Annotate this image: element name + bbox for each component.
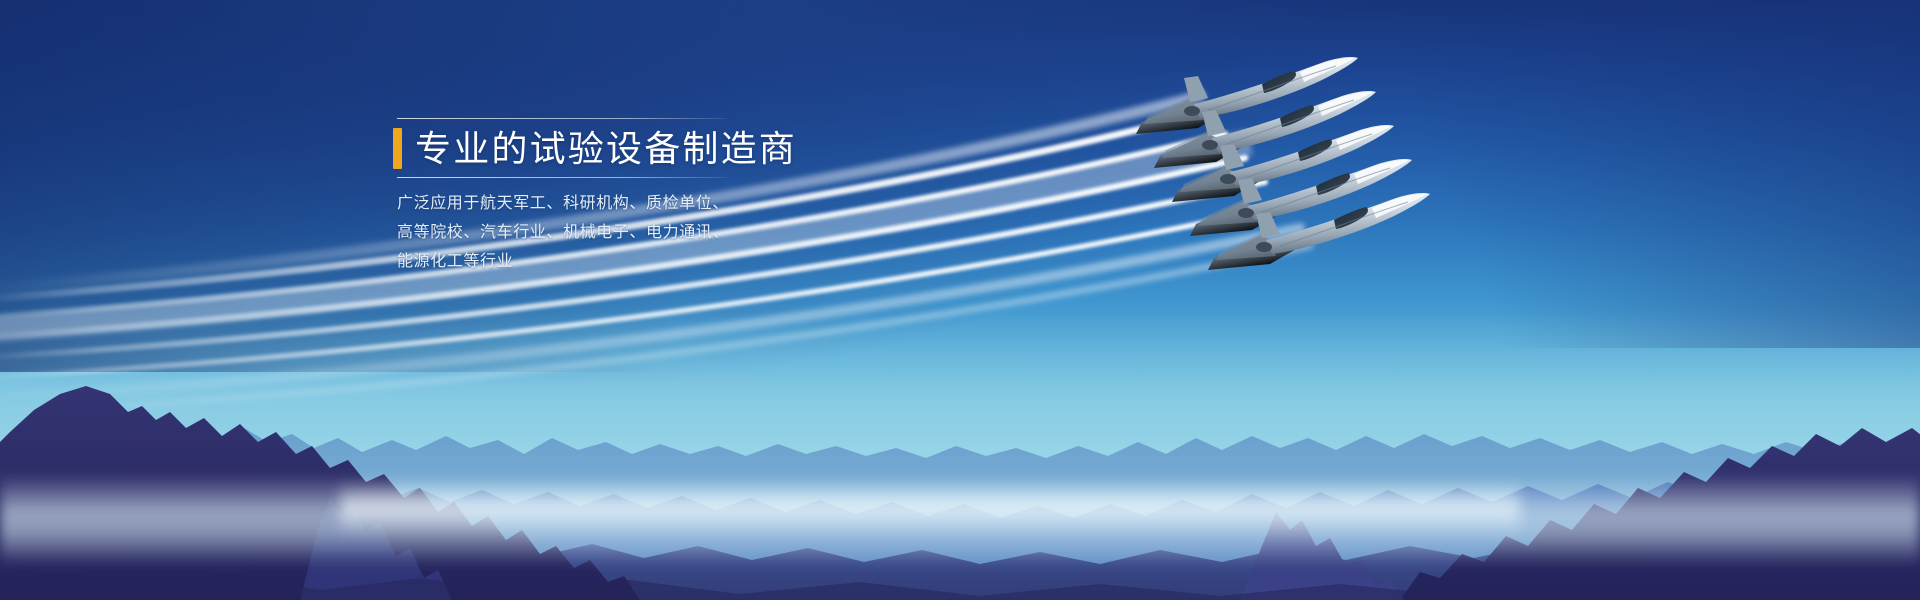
hero-banner: 专业的试验设备制造商 广泛应用于航天军工、科研机构、质检单位、 高等院校、汽车行… xyxy=(0,0,1920,600)
accent-bar xyxy=(393,128,402,169)
mountain-range-icon xyxy=(0,350,1920,600)
subtitle-line-1: 广泛应用于航天军工、科研机构、质检单位、 xyxy=(397,189,913,218)
jet-formation xyxy=(1130,42,1510,272)
fighter-jet-formation-icon xyxy=(1130,42,1510,272)
subtitle-line-3: 能源化工等行业 xyxy=(397,247,913,276)
mountain-range xyxy=(0,350,1920,600)
page-title: 专业的试验设备制造商 xyxy=(415,131,797,167)
headline-row: 专业的试验设备制造商 xyxy=(393,119,913,177)
bottom-divider xyxy=(397,177,727,178)
hero-subtitle: 广泛应用于航天军工、科研机构、质检单位、 高等院校、汽车行业、机械电子、电力通讯… xyxy=(397,189,913,276)
hero-copy: 专业的试验设备制造商 广泛应用于航天军工、科研机构、质检单位、 高等院校、汽车行… xyxy=(393,118,913,276)
subtitle-line-2: 高等院校、汽车行业、机械电子、电力通讯、 xyxy=(397,218,913,247)
